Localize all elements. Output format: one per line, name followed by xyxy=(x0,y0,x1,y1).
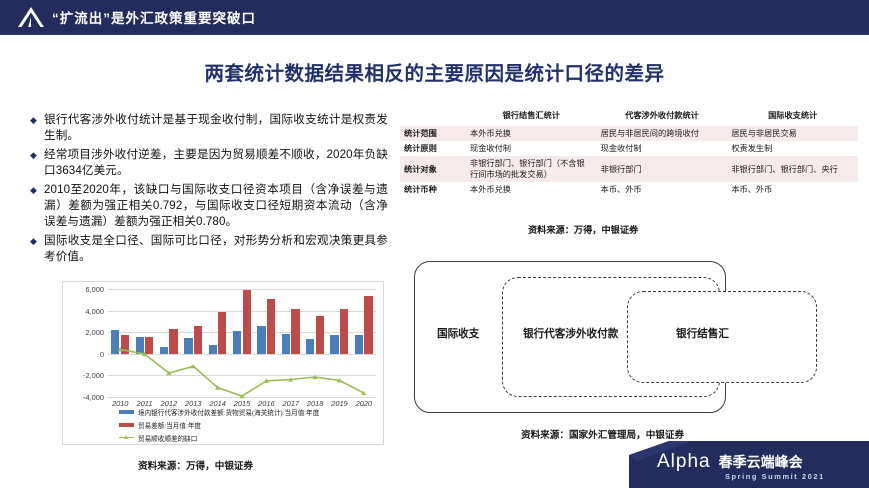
table-col-header: 银行结售汇统计 xyxy=(466,108,597,126)
header-title: “扩流出”是外汇政策重要突破口 xyxy=(52,7,256,27)
slide-header: “扩流出”是外汇政策重要突破口 xyxy=(0,0,869,33)
bullet-marker-icon: ◆ xyxy=(30,112,44,129)
table-cell: 居民与非居民交易 xyxy=(727,126,858,141)
table-row-header: 统计范围 xyxy=(400,126,466,141)
footer-brand-cn: 春季云端峰会 xyxy=(719,454,803,471)
slide-root: “扩流出”是外汇政策重要突破口 两套统计数据结果相反的主要原因是统计口径的差异 … xyxy=(0,0,869,488)
table-cell: 非银行部门 xyxy=(597,156,728,182)
footer-brand-en: Spring Summit 2021 xyxy=(725,472,825,481)
list-item: ◆ 2010至2020年，该缺口与国际收支口径资本项目（含净误差与遗漏）差额为强… xyxy=(30,182,388,231)
chart-y-tick-label: 2,000 xyxy=(64,328,104,337)
table-row-header: 统计对象 xyxy=(400,156,466,182)
table-cell: 本币、外币 xyxy=(727,182,858,197)
legend-item: 贸易顺收顺差的缺口 xyxy=(119,432,381,443)
venn-inner-settlement: 银行结售汇 xyxy=(627,291,817,383)
bullet-text: 银行代客涉外收付统计是基于现金收付制，国际收支统计是权责发生制。 xyxy=(44,112,388,145)
bullet-marker-icon: ◆ xyxy=(30,182,44,199)
chart-y-tick-label: -2,000 xyxy=(64,371,104,380)
table-row: 统计原则 现金收付制 现金收付制 权责发生制 xyxy=(400,141,858,156)
bullet-list: ◆ 银行代客涉外收付统计是基于现金收付制，国际收支统计是权责发生制。 ◆ 经常项… xyxy=(30,112,388,268)
table-cell: 非银行部门、银行部门、央行 xyxy=(727,156,858,182)
table-row-header: 统计原则 xyxy=(400,141,466,156)
venn-middle-label: 银行代客涉外收付款 xyxy=(523,326,618,341)
bullet-text: 2010至2020年，该缺口与国际收支口径资本项目（含净误差与遗漏）差额为强正相… xyxy=(44,182,388,231)
chart-line-series xyxy=(108,289,376,397)
alpha-chevron-icon xyxy=(14,5,48,29)
table-cell: 权责发生制 xyxy=(727,141,858,156)
table-col-header: 国际收支统计 xyxy=(727,108,858,126)
table-cell: 本币、外币 xyxy=(597,182,728,197)
statistics-comparison-table: 银行结售汇统计 代客涉外收付款统计 国际收支统计 统计范围 本外币兑换 居民与非… xyxy=(400,108,858,197)
list-item: ◆ 经常项目涉外收付逆差，主要是因为贸易顺差不顺收，2020年负缺口3634亿美… xyxy=(30,147,388,180)
table-row-header: 统计币种 xyxy=(400,182,466,197)
legend-label: 贸易顺收顺差的缺口 xyxy=(138,433,197,443)
table-corner-cell xyxy=(400,108,466,126)
chart-y-tick-label: 6,000 xyxy=(64,285,104,294)
table-row: 统计币种 本外币兑换 本币、外币 本币、外币 xyxy=(400,182,858,197)
list-item: ◆ 银行代客涉外收付统计是基于现金收付制，国际收支统计是权责发生制。 xyxy=(30,112,388,145)
chart-y-tick-label: -4,000 xyxy=(64,393,104,402)
chart-line-path xyxy=(120,349,364,396)
chart-y-tick-label: 0 xyxy=(64,350,104,359)
legend-label: 境内银行代客涉外收付款差额:货物贸易(海关统计):当月值:年度 xyxy=(138,407,319,417)
footer-brand: Alpha 春季云端峰会 xyxy=(657,452,803,471)
table-header-row: 银行结售汇统计 代客涉外收付款统计 国际收支统计 xyxy=(400,108,858,126)
table-cell: 现金收付制 xyxy=(466,141,597,156)
trade-gap-chart: 6,0004,0002,0000-2,000-4,000 20102011201… xyxy=(62,281,384,445)
page-title: 两套统计数据结果相反的主要原因是统计口径的差异 xyxy=(0,57,869,86)
bullet-text: 经常项目涉外收付逆差，主要是因为贸易顺差不顺收，2020年负缺口3634亿美元。 xyxy=(44,147,388,180)
header-rule xyxy=(0,33,869,35)
legend-line-marker-icon xyxy=(119,434,134,442)
legend-item: 境内银行代客涉外收付款差额:货物贸易(海关统计):当月值:年度 xyxy=(119,406,381,417)
bullet-text: 国际收支是全口径、国际可比口径，对形势分析和宏观决策更具参考价值。 xyxy=(44,233,388,266)
chart-y-tick-label: 4,000 xyxy=(64,307,104,316)
bullet-marker-icon: ◆ xyxy=(30,233,44,250)
table-cell: 本外币兑换 xyxy=(466,182,597,197)
bullet-marker-icon: ◆ xyxy=(30,147,44,164)
chart-source-note: 资料来源：万得，中银证券 xyxy=(138,458,253,472)
footer-brand-alpha: Alpha xyxy=(657,452,711,471)
table-row: 统计对象 非银行部门、银行部门（不含银行间市场的批发交易） 非银行部门 非银行部… xyxy=(400,156,858,182)
venn-inner-label: 银行结售汇 xyxy=(676,326,729,341)
venn-source-note: 资料来源：国家外汇管理局，中银证券 xyxy=(521,427,684,441)
legend-label: 贸易差额:当月值:年度 xyxy=(138,420,201,430)
chart-legend: 境内银行代客涉外收付款差额:货物贸易(海关统计):当月值:年度 贸易差额:当月值… xyxy=(119,406,381,445)
nested-scope-diagram: 国际收支 银行代客涉外收付款 银行结售汇 xyxy=(404,253,856,421)
table-col-header: 代客涉外收付款统计 xyxy=(597,108,728,126)
table-cell: 居民与非居民间的跨境收付 xyxy=(597,126,728,141)
legend-item: 贸易差额:当月值:年度 xyxy=(119,419,381,430)
list-item: ◆ 国际收支是全口径、国际可比口径，对形势分析和宏观决策更具参考价值。 xyxy=(30,233,388,266)
table-row: 统计范围 本外币兑换 居民与非居民间的跨境收付 居民与非居民交易 xyxy=(400,126,858,141)
slide-footer: Alpha 春季云端峰会 Spring Summit 2021 xyxy=(629,441,869,488)
legend-swatch-icon xyxy=(119,423,134,427)
table-cell: 本外币兑换 xyxy=(466,126,597,141)
table-cell: 非银行部门、银行部门（不含银行间市场的批发交易） xyxy=(466,156,597,182)
table-cell: 现金收付制 xyxy=(597,141,728,156)
legend-swatch-icon xyxy=(119,410,134,414)
table-source-note: 资料来源：万得，中银证券 xyxy=(528,222,638,236)
venn-outer-label: 国际收支 xyxy=(437,326,479,341)
